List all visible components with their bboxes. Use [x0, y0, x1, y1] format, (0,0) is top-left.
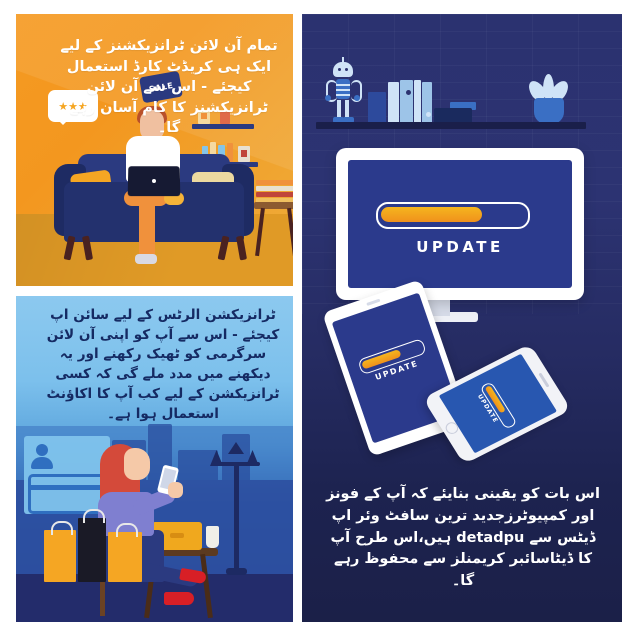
- woman-head: [124, 448, 150, 480]
- shelf-book: [422, 82, 432, 124]
- coffee-cup-icon: [206, 526, 219, 548]
- stacked-book: [256, 180, 293, 185]
- poster-canvas: ★★★ SALE تمام آن لائن ٹرانزیکشنز کے لیے …: [0, 0, 640, 640]
- stool-leg: [100, 580, 105, 616]
- woman-shoe: [164, 592, 194, 605]
- street-lamp-pole: [234, 462, 239, 572]
- robot-toy-icon: [326, 62, 360, 124]
- panel-lightblue-urdu-text: ٹرانزیکشن الرٹس کے لیے سائن اپ کیجئے - ا…: [45, 306, 281, 424]
- stacked-book: [256, 192, 293, 197]
- phone-screen: UPDATE: [439, 354, 557, 454]
- monitor-progress-fill: [381, 207, 482, 222]
- laptop-icon: [128, 166, 181, 196]
- monitor-screen: UPDATE: [348, 160, 572, 288]
- woman-hand: [168, 482, 183, 498]
- man-leg: [139, 190, 155, 262]
- panel-navy-urdu-text: اس بات کو یقینی بنایئے کہ آپ کے فونز اور…: [322, 484, 604, 593]
- user-account-icon: [30, 444, 54, 470]
- panel-orange-urdu-text: تمام آن لائن ٹرانزیکشنز کے لیے ایک ہی کر…: [59, 36, 279, 139]
- shopping-bag: [44, 530, 76, 582]
- monitor-progress-track: [376, 202, 530, 229]
- shelf-book: [388, 82, 399, 124]
- panel-online-transactions: ★★★ SALE تمام آن لائن ٹرانزیکشنز کے لیے …: [16, 14, 293, 286]
- book-dot-decor: [426, 112, 431, 117]
- plant-leaf: [543, 74, 554, 100]
- street-lamp-base: [226, 568, 247, 575]
- shopping-bag: [78, 518, 106, 582]
- photo-frame-icon: [238, 146, 250, 162]
- shelf-book: [414, 80, 421, 124]
- monitor-update-label: UPDATE: [348, 238, 572, 256]
- panel-transaction-alerts: ٹرانزیکشن الرٹس کے لیے سائن اپ کیجئے - ا…: [16, 296, 293, 622]
- man-shoe: [135, 254, 157, 264]
- shelf-book: [400, 80, 413, 124]
- plant-pot-icon: [534, 98, 564, 124]
- wall-shelf: [316, 122, 586, 129]
- book-dot-decor: [406, 90, 411, 95]
- desktop-monitor: UPDATE: [336, 148, 584, 300]
- shelf-book: [368, 92, 386, 124]
- shopping-bag: [108, 532, 142, 582]
- tablet-camera-icon: [366, 299, 380, 306]
- panel-software-updates: UPDATE UPDATE UPDATE اس بات کو یقینی ب: [302, 14, 622, 622]
- stacked-book: [256, 186, 293, 191]
- credit-card-icon: [28, 474, 106, 514]
